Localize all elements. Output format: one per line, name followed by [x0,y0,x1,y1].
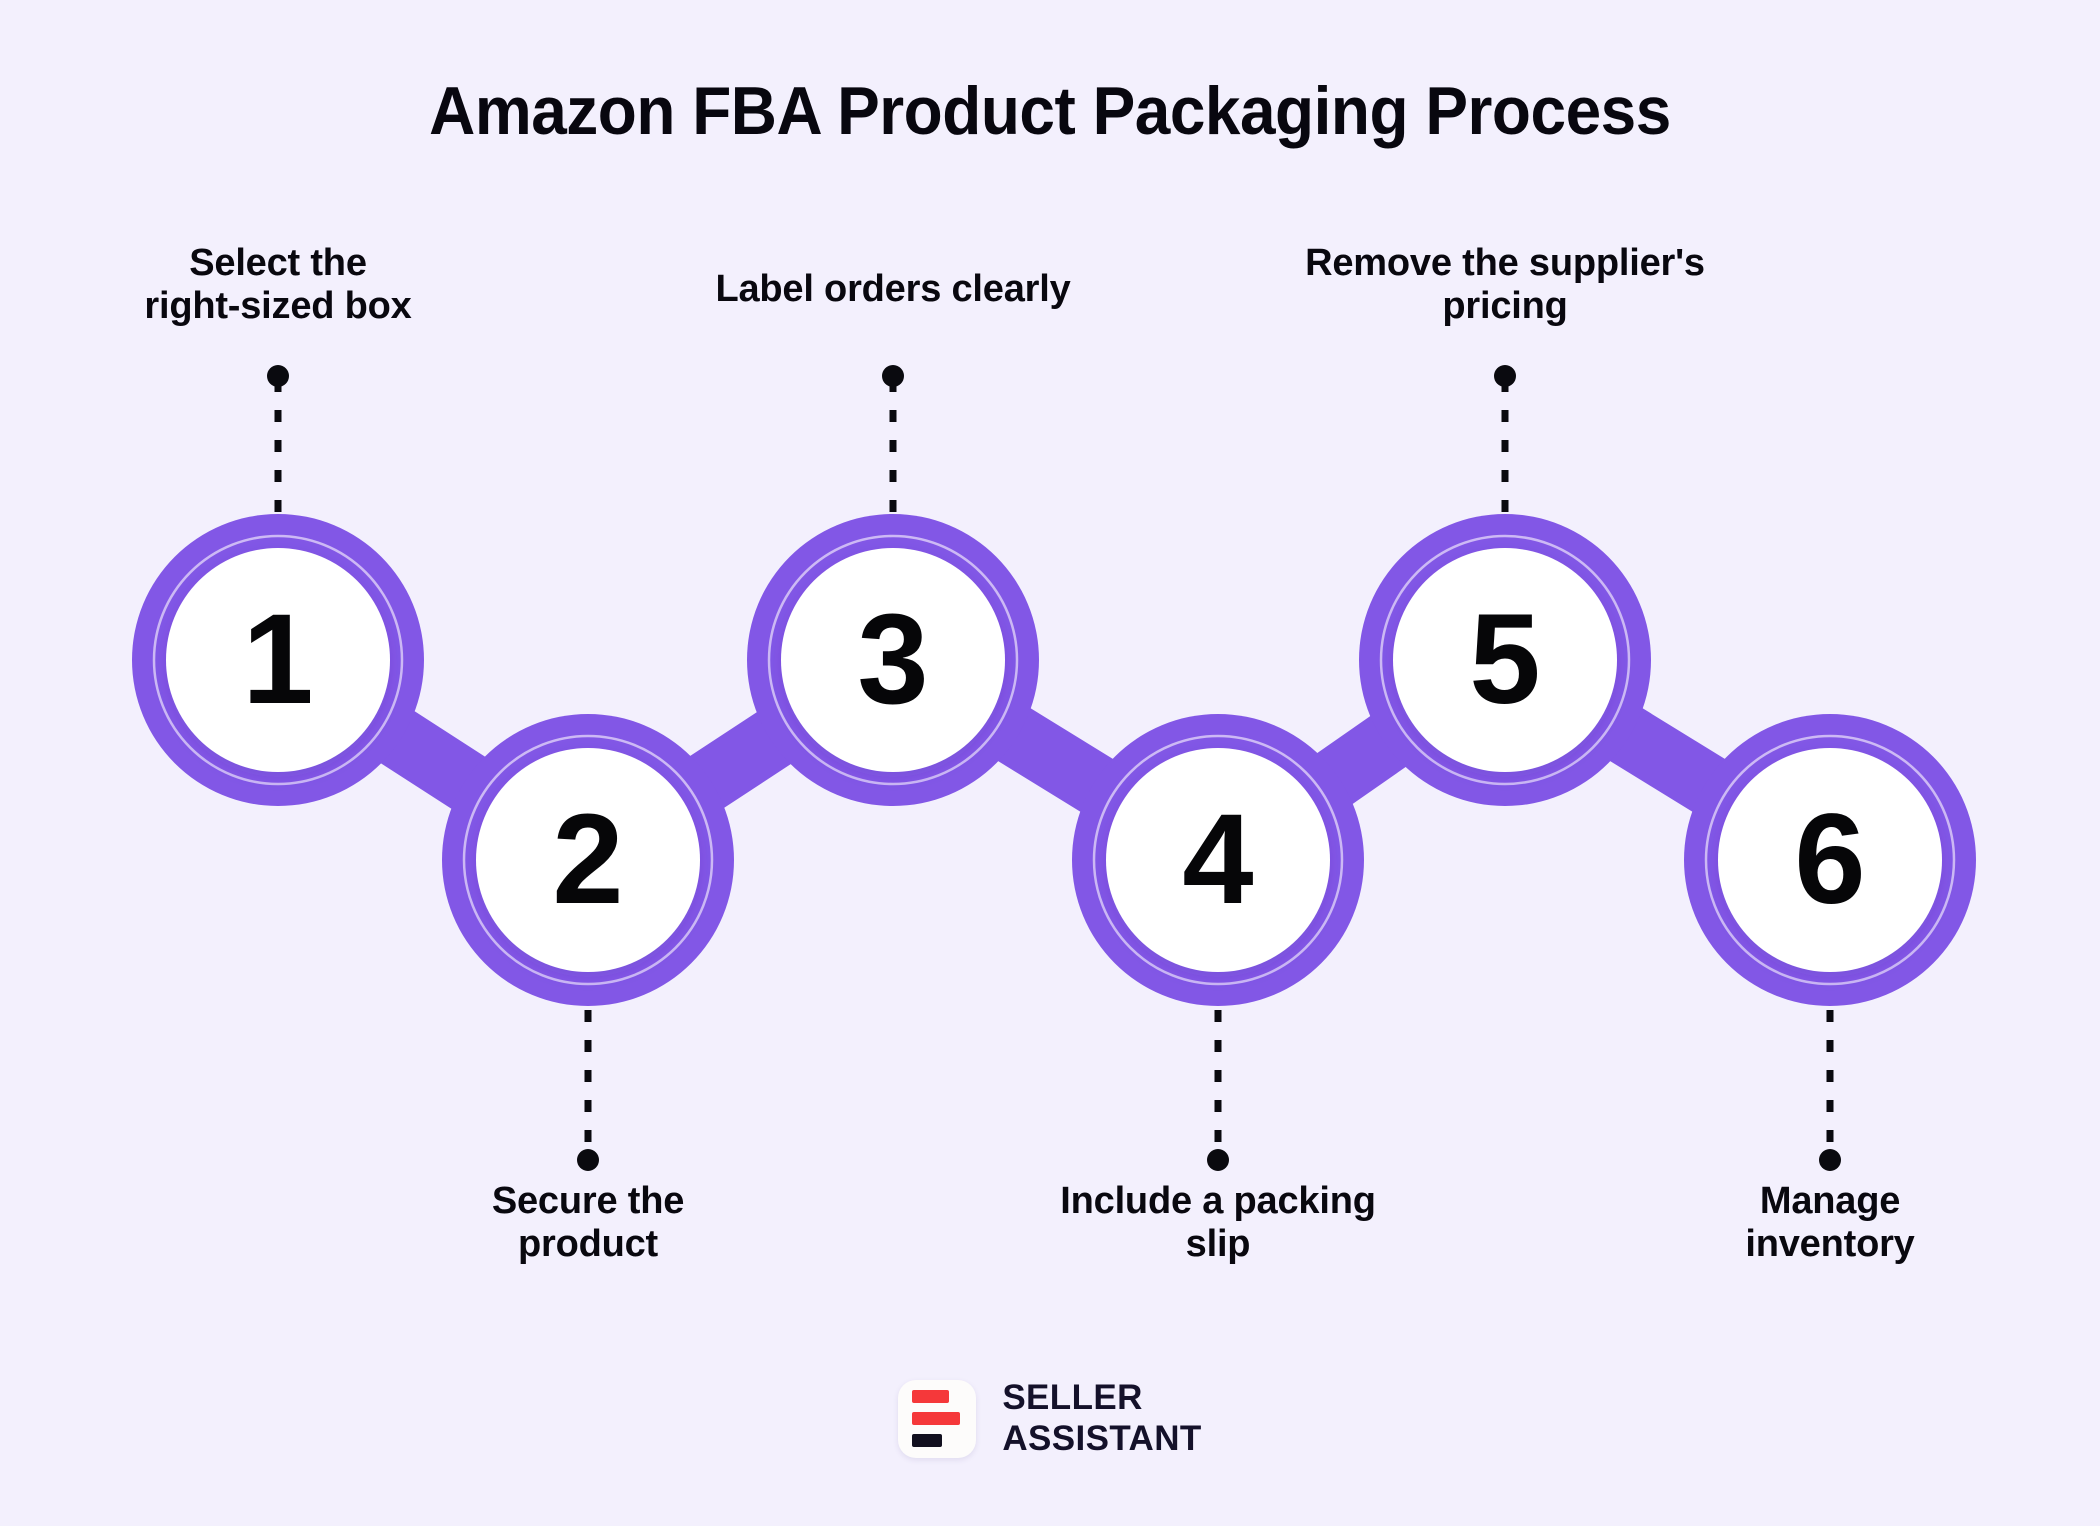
step-number-5: 5 [1405,560,1605,760]
step-number-4: 4 [1118,760,1318,960]
leader-dot-6 [1819,1149,1841,1171]
seller-assistant-logo-icon [898,1380,976,1458]
step-label-1: Select the right-sized box [78,242,478,329]
step-label-6-line2: inventory [1630,1223,2030,1266]
step-label-3: Label orders clearly [643,268,1143,311]
step-label-3-line1: Label orders clearly [643,268,1143,311]
step-label-1-line2: right-sized box [78,285,478,328]
leader-dot-1 [267,365,289,387]
logo-bar-red-top [912,1390,949,1403]
step-label-5-line2: pricing [1225,285,1785,328]
step-label-2-line2: product [408,1223,768,1266]
brand-name-line2: ASSISTANT [1002,1419,1201,1460]
logo-bar-red-middle [912,1412,960,1425]
step-label-4: Include a packing slip [978,1180,1458,1267]
step-label-2: Secure the product [408,1180,768,1267]
step-number-3: 3 [793,560,993,760]
step-label-4-line2: slip [978,1223,1458,1266]
brand-name-line1: SELLER [1002,1378,1201,1419]
step-label-6-line1: Manage [1630,1180,2030,1223]
leader-dot-2 [577,1149,599,1171]
step-label-6: Manage inventory [1630,1180,2030,1267]
step-number-6: 6 [1730,760,1930,960]
brand-logo: SELLER ASSISTANT [0,1378,2100,1459]
leader-dot-5 [1494,365,1516,387]
step-label-4-line1: Include a packing [978,1180,1458,1223]
leader-dot-3 [882,365,904,387]
step-label-2-line1: Secure the [408,1180,768,1223]
step-label-1-line1: Select the [78,242,478,285]
step-label-5: Remove the supplier's pricing [1225,242,1785,329]
brand-name: SELLER ASSISTANT [1002,1378,1201,1459]
step-number-2: 2 [488,760,688,960]
step-number-1: 1 [178,560,378,760]
leader-dot-4 [1207,1149,1229,1171]
logo-bar-dark-bottom [912,1434,942,1447]
step-label-5-line1: Remove the supplier's [1225,242,1785,285]
